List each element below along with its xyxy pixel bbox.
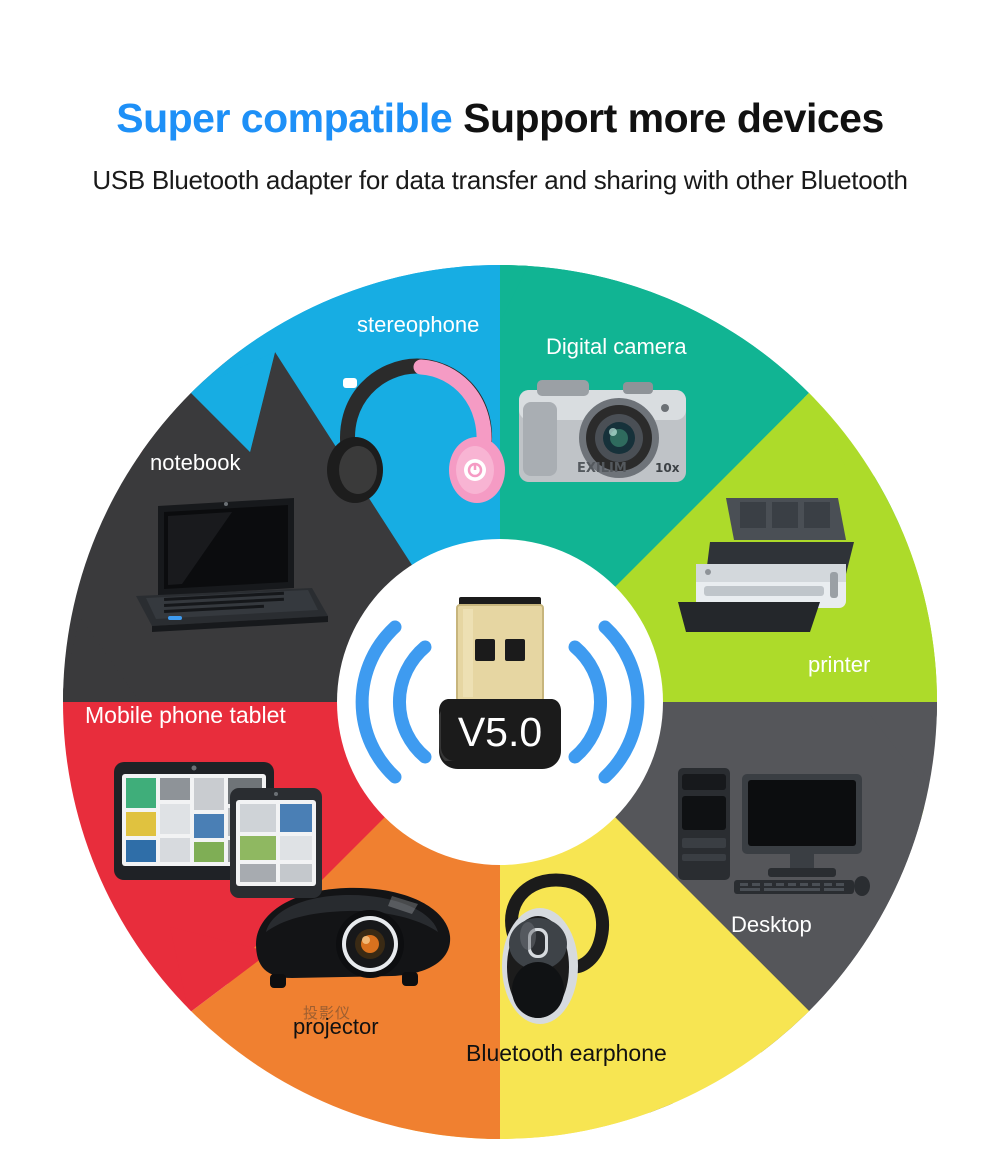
svg-text:10x: 10x <box>655 461 680 475</box>
compatibility-wheel: EXILIM 10x <box>60 262 940 1142</box>
tablet-phone-icon <box>112 754 327 899</box>
headline-accent-text: Super compatible <box>116 95 452 141</box>
svg-text:EXILIM: EXILIM <box>577 461 627 476</box>
desktop-computer-icon <box>672 762 872 907</box>
page-subheadline: USB Bluetooth adapter for data transfer … <box>0 165 1000 196</box>
header-block: Super compatible Support more devices US… <box>0 0 1000 196</box>
version-label: V5.0 <box>458 709 542 755</box>
usb-bluetooth-dongle: V5.0 <box>337 539 663 865</box>
camera-icon: EXILIM 10x <box>515 372 690 497</box>
bluetooth-headset-icon <box>478 870 628 1035</box>
label-projector-watermark: 投影仪 <box>303 1002 351 1023</box>
signal-waves-left <box>362 627 425 777</box>
printer-icon <box>670 490 860 640</box>
signal-waves-right <box>575 627 638 777</box>
page-headline: Super compatible Support more devices <box>0 96 1000 141</box>
headline-rest-text: Support more devices <box>463 95 884 141</box>
laptop-icon <box>122 492 332 642</box>
center-hub: V5.0 <box>337 539 663 865</box>
headphones-icon <box>325 358 505 508</box>
